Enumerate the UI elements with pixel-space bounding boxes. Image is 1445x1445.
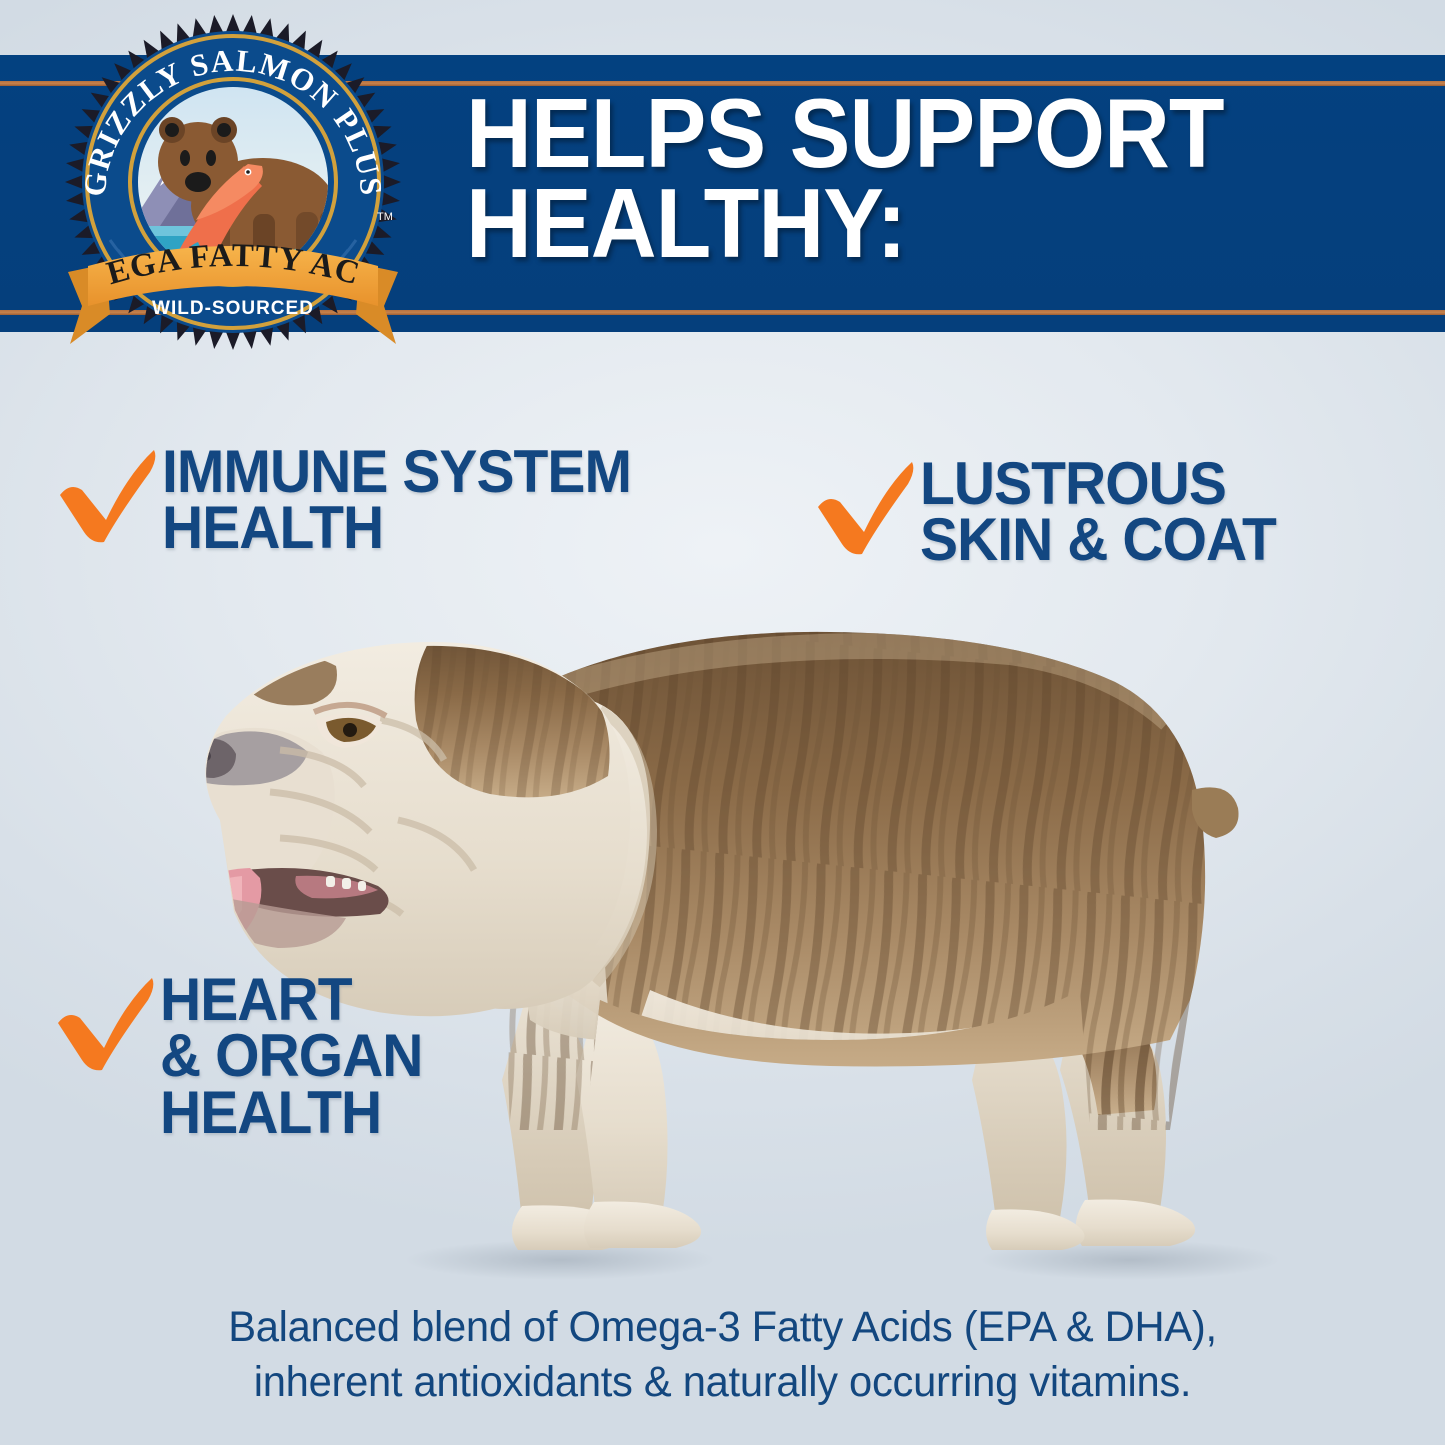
check-icon bbox=[52, 968, 160, 1078]
page-title: HELPS SUPPORT HEALTHY: bbox=[466, 88, 1331, 268]
benefit-label: LUSTROUS SKIN & COAT bbox=[920, 452, 1276, 569]
rear-paw bbox=[1076, 1199, 1195, 1246]
brand-logo: GRIZZLY SALMON PLUS TM WILD-SOURCED OMEG… bbox=[48, 14, 418, 374]
benefit-label: IMMUNE SYSTEM HEALTH bbox=[162, 440, 631, 557]
check-icon bbox=[54, 440, 162, 550]
product-benefits-graphic: HELPS SUPPORT HEALTHY: bbox=[0, 0, 1445, 1445]
footer-caption: Balanced blend of Omega-3 Fatty Acids (E… bbox=[22, 1300, 1424, 1410]
check-icon bbox=[812, 452, 920, 562]
benefit-item-heart-organ-health: HEART & ORGAN HEALTH bbox=[52, 968, 436, 1141]
benefit-label: HEART & ORGAN HEALTH bbox=[160, 968, 423, 1141]
logo-trademark: TM bbox=[377, 211, 393, 223]
benefit-item-immune-system-health: IMMUNE SYSTEM HEALTH bbox=[54, 440, 656, 557]
bulldog-photo bbox=[130, 570, 1310, 1290]
logo-sub-label: WILD-SOURCED bbox=[152, 298, 314, 319]
head bbox=[163, 638, 631, 1016]
benefit-item-lustrous-skin-coat: LUSTROUS SKIN & COAT bbox=[812, 452, 1295, 569]
